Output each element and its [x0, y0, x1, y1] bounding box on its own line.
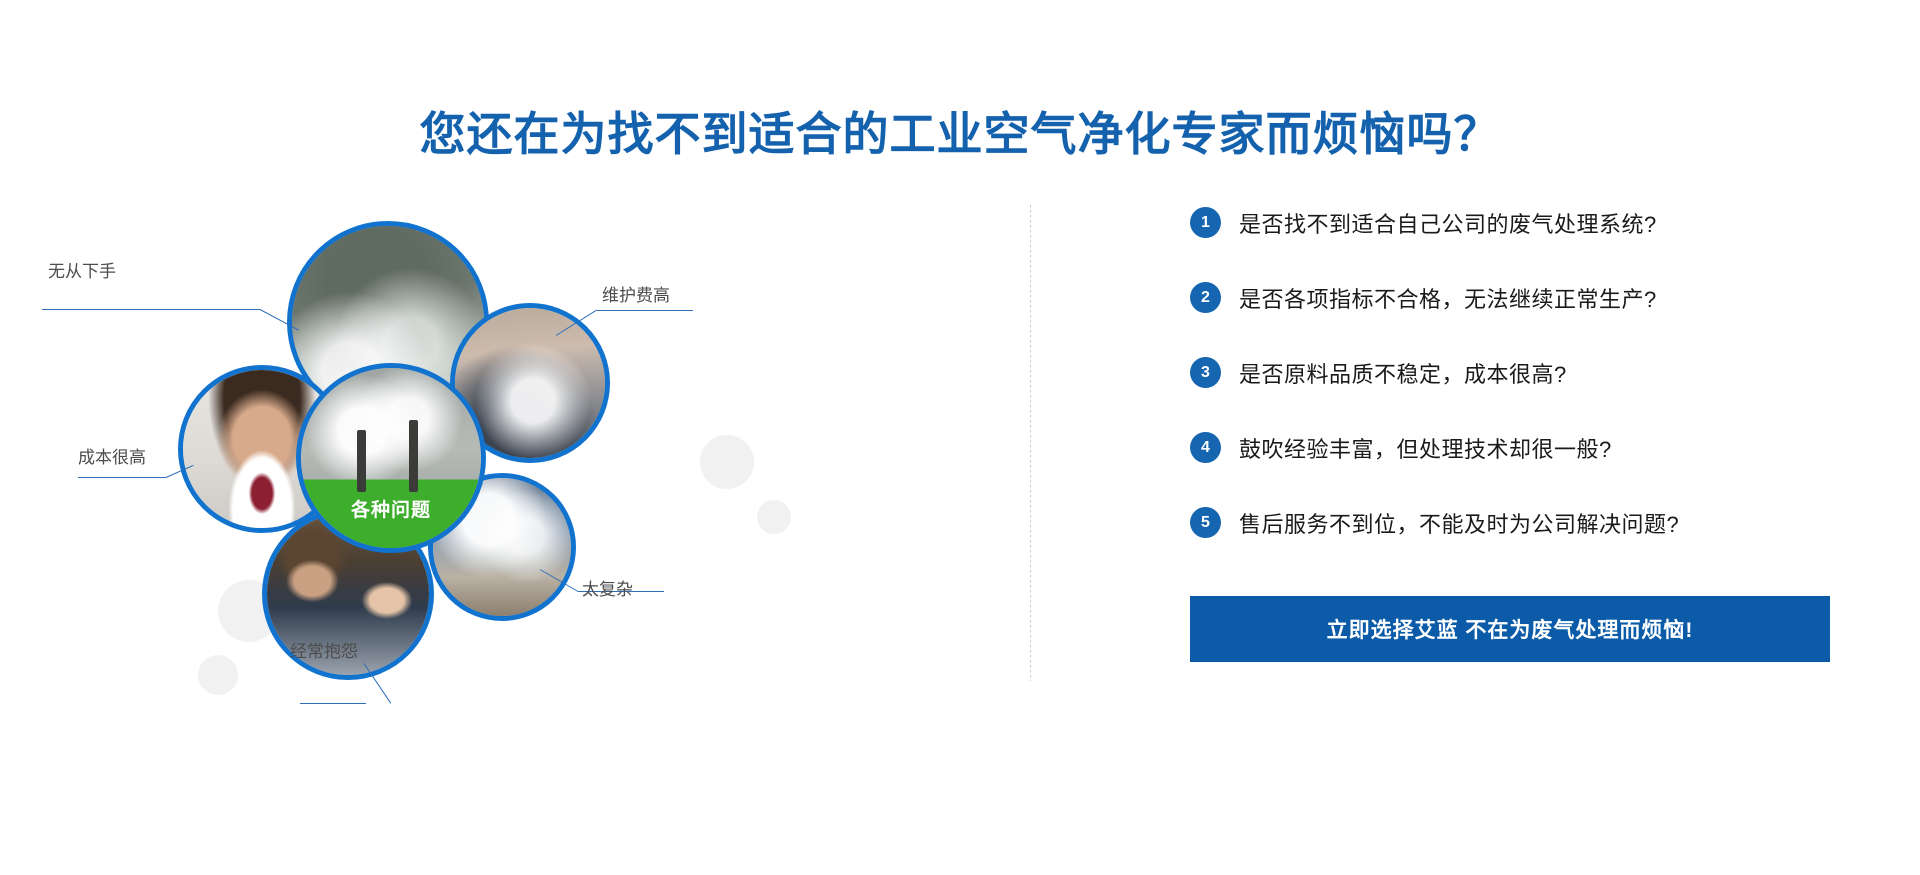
content-stage: 各种问题 无从下手 维护费高 成本很高 [0, 185, 1920, 875]
question-text: 售后服务不到位，不能及时为公司解决问题? [1239, 507, 1679, 539]
question-text: 是否找不到适合自己公司的废气处理系统? [1239, 207, 1657, 239]
decorative-blob [757, 500, 791, 534]
chimney-shape [409, 420, 418, 492]
decorative-blob [198, 655, 238, 695]
tag-top-left: 无从下手 [48, 257, 116, 282]
question-number-badge: 3 [1190, 357, 1221, 388]
tag-right-bottom: 太复杂 [582, 575, 633, 600]
page-header: 您还在为找不到适合的工业空气净化专家而烦恼吗？ [0, 78, 1920, 190]
questions-panel: 1 是否找不到适合自己公司的废气处理系统? 2 是否各项指标不合格，无法继续正常… [1190, 185, 1850, 662]
question-text: 是否原料品质不稳定，成本很高? [1239, 357, 1567, 389]
cta-banner-button[interactable]: 立即选择艾蓝 不在为废气处理而烦恼! [1190, 596, 1830, 662]
tag-bottom: 经常抱怨 [290, 637, 358, 662]
question-number-badge: 5 [1190, 507, 1221, 538]
photo-bubble-center-chimneys: 各种问题 [296, 363, 486, 553]
center-label: 各种问题 [301, 495, 481, 522]
tag-right-top: 维护费高 [602, 281, 670, 306]
question-item: 4 鼓吹经验丰富，但处理技术却很一般? [1190, 410, 1850, 485]
question-number-badge: 1 [1190, 207, 1221, 238]
question-text: 鼓吹经验丰富，但处理技术却很一般? [1239, 432, 1612, 464]
chimney-shape [357, 430, 366, 492]
tag-left: 成本很高 [78, 443, 146, 468]
question-number-badge: 4 [1190, 432, 1221, 463]
question-item: 2 是否各项指标不合格，无法继续正常生产? [1190, 260, 1850, 335]
question-text: 是否各项指标不合格，无法继续正常生产? [1239, 282, 1657, 314]
leader-line-top-left [42, 277, 302, 317]
leader-line-bottom [300, 663, 420, 699]
problems-infographic: 各种问题 无从下手 维护费高 成本很高 [0, 185, 1020, 875]
question-item: 1 是否找不到适合自己公司的废气处理系统? [1190, 185, 1850, 260]
cta-label: 立即选择艾蓝 不在为废气处理而烦恼! [1327, 614, 1694, 644]
page-title: 您还在为找不到适合的工业空气净化专家而烦恼吗？ [420, 109, 1501, 160]
vertical-divider [1030, 205, 1031, 681]
leader-line-right-top [556, 305, 696, 345]
question-item: 5 售后服务不到位，不能及时为公司解决问题? [1190, 485, 1850, 560]
question-item: 3 是否原料品质不稳定，成本很高? [1190, 335, 1850, 410]
decorative-blob [700, 435, 754, 489]
question-number-badge: 2 [1190, 282, 1221, 313]
